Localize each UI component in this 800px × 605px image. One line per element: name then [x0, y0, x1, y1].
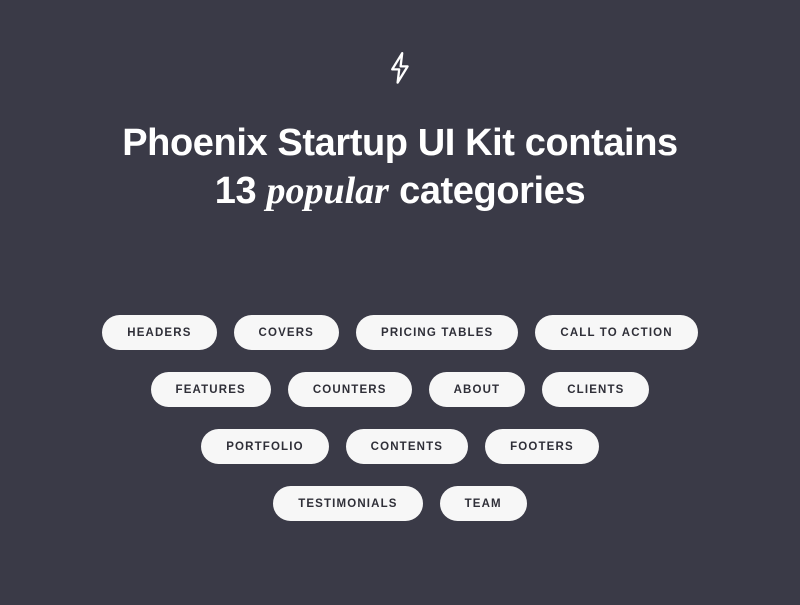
category-pill-covers[interactable]: Covers — [234, 315, 339, 350]
category-pill-headers[interactable]: Headers — [102, 315, 216, 350]
category-row-1: Headers Covers Pricing Tables Call to Ac… — [102, 315, 697, 350]
category-pill-footers[interactable]: Footers — [485, 429, 599, 464]
category-pill-clients[interactable]: Clients — [542, 372, 649, 407]
category-pill-cloud: Headers Covers Pricing Tables Call to Ac… — [50, 315, 750, 521]
headline-emphasis: popular — [266, 170, 388, 212]
headline-suffix: categories — [389, 170, 585, 212]
category-pill-features[interactable]: Features — [151, 372, 271, 407]
category-pill-call-to-action[interactable]: Call to Action — [535, 315, 697, 350]
headline-line-2: 13 popular categories — [40, 168, 760, 216]
headline-count: 13 — [215, 170, 267, 212]
category-pill-testimonials[interactable]: Testimonials — [273, 486, 422, 521]
page-title: Phoenix Startup UI Kit contains 13 popul… — [40, 120, 760, 216]
category-row-2: Features Counters About Clients — [151, 372, 650, 407]
category-pill-team[interactable]: Team — [440, 486, 527, 521]
lightning-bolt-icon — [387, 50, 413, 86]
category-pill-portfolio[interactable]: Portfolio — [201, 429, 328, 464]
headline-line-1: Phoenix Startup UI Kit contains — [40, 120, 760, 168]
category-pill-pricing-tables[interactable]: Pricing Tables — [356, 315, 518, 350]
category-pill-counters[interactable]: Counters — [288, 372, 412, 407]
category-pill-contents[interactable]: Contents — [346, 429, 468, 464]
category-row-3: Portfolio Contents Footers — [201, 429, 599, 464]
category-pill-about[interactable]: About — [429, 372, 526, 407]
page-root: Phoenix Startup UI Kit contains 13 popul… — [0, 0, 800, 605]
category-row-4: Testimonials Team — [273, 486, 527, 521]
